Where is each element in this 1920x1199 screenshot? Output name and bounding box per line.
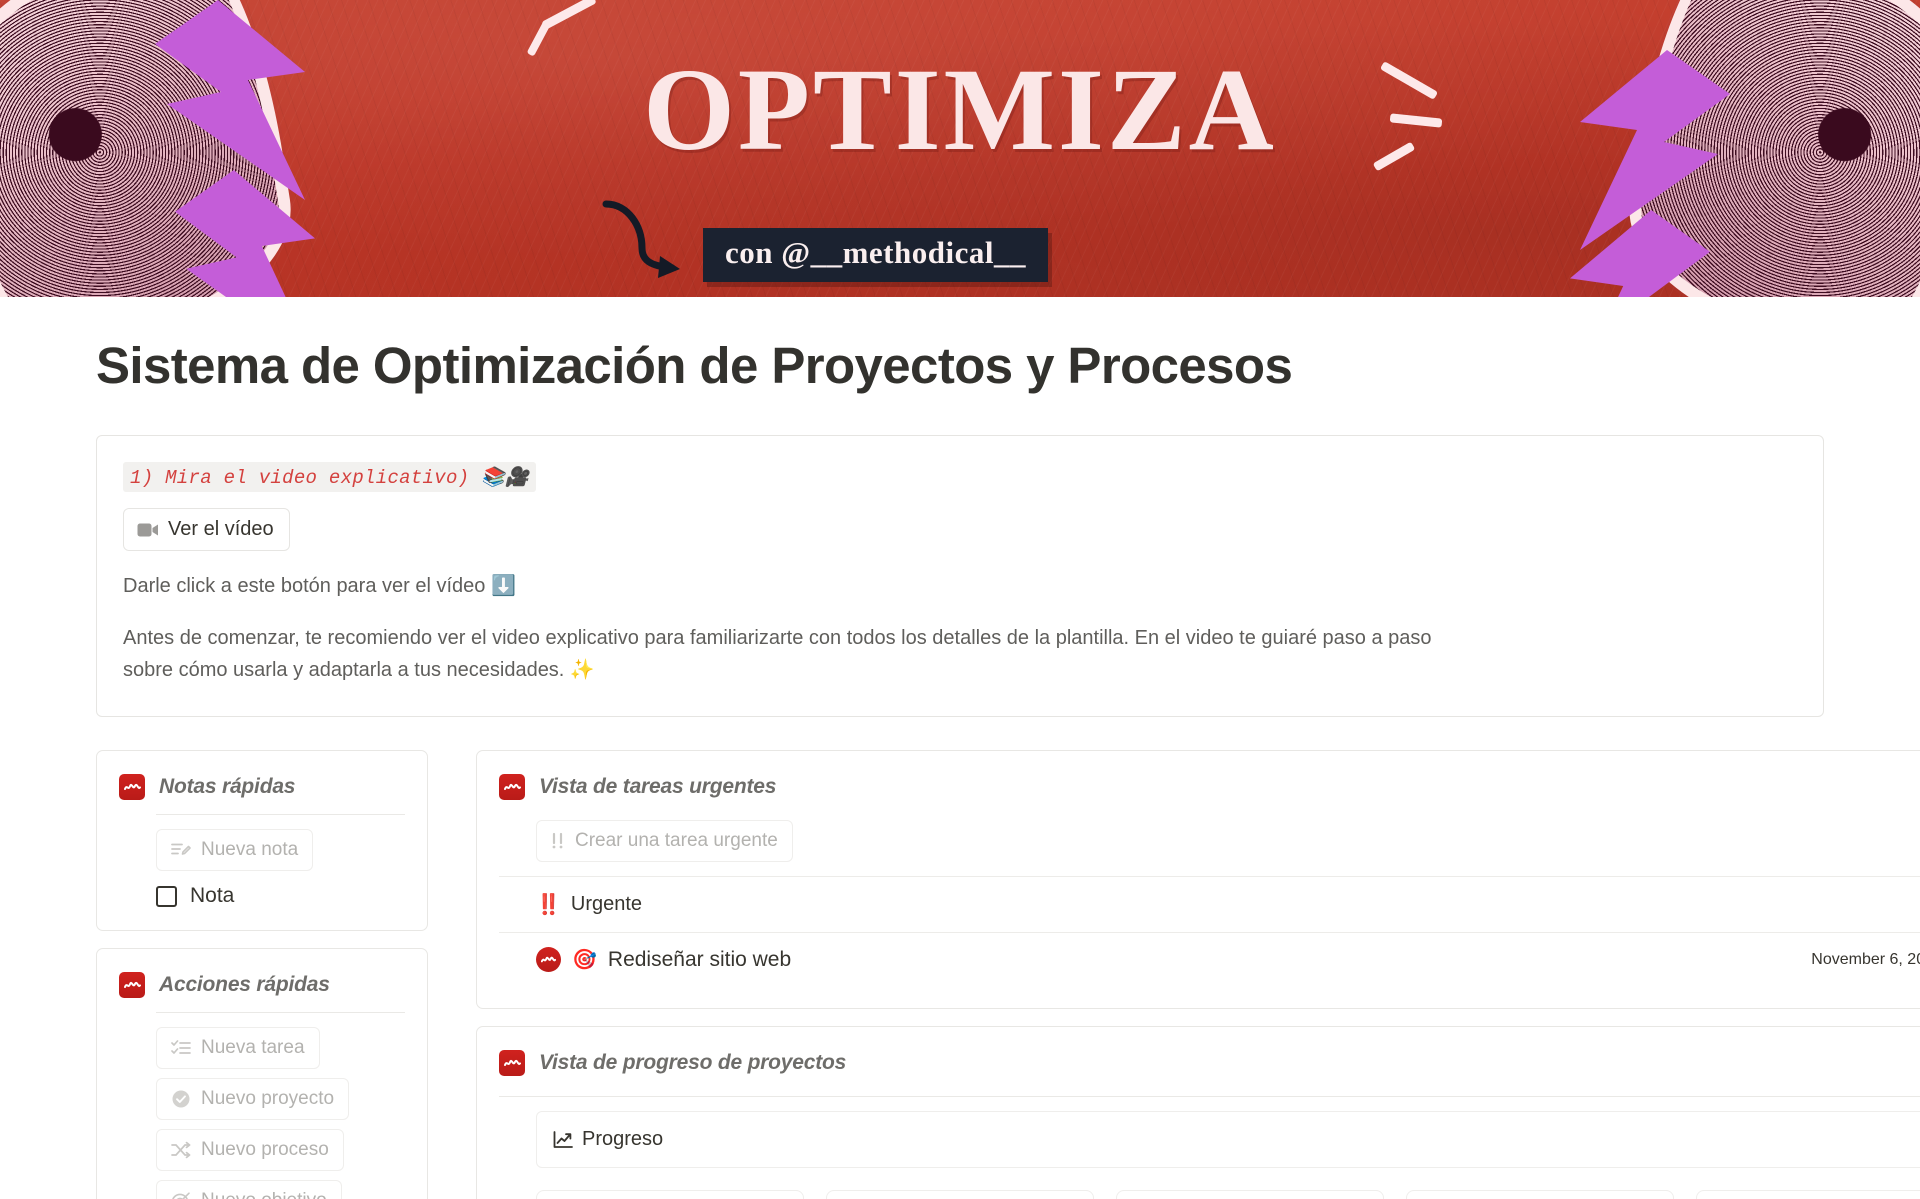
nueva-tarea-row: Nueva tarea	[119, 1027, 405, 1069]
nueva-nota-label: Nueva nota	[201, 839, 298, 861]
crear-tarea-urgente-button[interactable]: Crear una tarea urgente	[536, 820, 793, 862]
nueva-nota-row: Nueva nota	[119, 829, 405, 871]
target-icon	[171, 1191, 191, 1199]
watch-video-button[interactable]: Ver el vídeo	[123, 508, 290, 551]
notion-database-icon	[536, 947, 561, 972]
video-callout-block: 1) Mira el video explicativo) 📚🎥 Ver el …	[96, 435, 1824, 717]
notion-database-icon	[119, 774, 145, 800]
divider	[156, 814, 405, 815]
notas-rapidas-header[interactable]: Notas rápidas	[119, 769, 405, 806]
double-exclamation-emoji: ‼️	[536, 895, 561, 915]
project-card[interactable]: Estrategia comercial	[1406, 1190, 1674, 1199]
table-row[interactable]: 🎯 Rediseñar sitio web November 6, 202…	[499, 932, 1920, 986]
nuevo-proceso-button[interactable]: Nuevo proceso	[156, 1129, 344, 1171]
group-header-progreso[interactable]: Progreso	[536, 1111, 1920, 1168]
nuevo-proyecto-button[interactable]: Nuevo proyecto	[156, 1078, 349, 1120]
double-exclamation-icon	[551, 832, 565, 850]
nuevo-objetivo-row: Nuevo objetivo	[119, 1180, 405, 1199]
task-date: November 6, 202…	[1811, 951, 1920, 969]
check-circle-icon	[171, 1089, 191, 1109]
project-card[interactable]	[1696, 1190, 1920, 1199]
divider	[156, 1012, 405, 1013]
shuffle-icon	[171, 1141, 191, 1159]
step-code-label: 1) Mira el video explicativo) 📚🎥	[123, 462, 536, 492]
notion-database-icon	[119, 972, 145, 998]
tareas-urgentes-card: Vista de tareas urgentes Crear una	[476, 750, 1920, 1009]
page-content: Sistema de Optimización de Proyectos y P…	[0, 335, 1920, 1199]
right-column: Vista de tareas urgentes Crear una	[476, 750, 1920, 1199]
crear-tarea-urgente-label: Crear una tarea urgente	[575, 830, 778, 852]
page-title: Sistema de Optimización de Proyectos y P…	[96, 335, 1824, 396]
notion-database-icon	[499, 774, 525, 800]
task-title: Rediseñar sitio web	[608, 948, 791, 972]
nueva-tarea-button[interactable]: Nueva tarea	[156, 1027, 320, 1069]
notion-database-icon	[499, 1050, 525, 1076]
nuevo-proceso-row: Nuevo proceso	[119, 1129, 405, 1171]
nuevo-objetivo-button[interactable]: Nuevo objetivo	[156, 1180, 342, 1199]
crear-tarea-urgente-row: Crear una tarea urgente	[499, 820, 1920, 862]
note-edit-icon	[171, 841, 191, 859]
group-header-label: Urgente	[571, 893, 642, 916]
banner-credit-badge: con @__methodical__	[703, 228, 1048, 282]
nuevo-proyecto-label: Nuevo proyecto	[201, 1088, 334, 1110]
nuevo-proceso-label: Nuevo proceso	[201, 1139, 329, 1161]
callout-lead-text: Darle click a este botón para ver el víd…	[123, 570, 1797, 602]
group-header-urgente[interactable]: ‼️ Urgente	[499, 876, 1920, 932]
chart-line-icon	[553, 1131, 573, 1149]
progreso-proyectos-header[interactable]: Vista de progreso de proyectos	[499, 1045, 1920, 1082]
project-card[interactable]: CRM	[826, 1190, 1094, 1199]
tareas-urgentes-header[interactable]: Vista de tareas urgentes	[499, 769, 1920, 806]
callout-body-text: Antes de comenzar, te recomiendo ver el …	[123, 622, 1453, 687]
nuevo-proyecto-row: Nuevo proyecto	[119, 1078, 405, 1120]
page-cover-banner: OPTIMIZA con @__methodical__	[0, 0, 1920, 297]
acciones-rapidas-card: Acciones rápidas Nueva tarea	[96, 948, 428, 1199]
notas-rapidas-card: Notas rápidas Nueva nota	[96, 750, 428, 931]
banner-title: OPTIMIZA	[0, 42, 1920, 178]
divider	[499, 1096, 1920, 1097]
task-row-content: 🎯 Rediseñar sitio web	[536, 947, 791, 972]
watch-video-button-label: Ver el vídeo	[168, 518, 274, 541]
progreso-proyectos-card: Vista de progreso de proyectos Progreso	[476, 1026, 1920, 1199]
nueva-tarea-label: Nueva tarea	[201, 1037, 305, 1059]
list-item[interactable]: Nota	[119, 884, 405, 908]
progreso-proyectos-title: Vista de progreso de proyectos	[539, 1051, 846, 1075]
video-camera-icon	[137, 522, 159, 538]
note-checkbox[interactable]	[156, 886, 177, 907]
project-card-gallery: Branding CRM	[536, 1190, 1920, 1199]
curved-arrow-icon	[598, 200, 708, 280]
dashboard-columns: Notas rápidas Nueva nota	[96, 750, 1824, 1199]
target-emoji: 🎯	[572, 950, 597, 970]
notas-rapidas-title: Notas rápidas	[159, 775, 295, 799]
group-header-label: Progreso	[582, 1128, 663, 1151]
tareas-urgentes-title: Vista de tareas urgentes	[539, 775, 776, 799]
nuevo-objetivo-label: Nuevo objetivo	[201, 1190, 327, 1199]
acciones-rapidas-title: Acciones rápidas	[159, 973, 330, 997]
project-card[interactable]: Branding	[536, 1190, 804, 1199]
left-column: Notas rápidas Nueva nota	[96, 750, 428, 1199]
project-card[interactable]: Gestión financiera	[1116, 1190, 1384, 1199]
nueva-nota-button[interactable]: Nueva nota	[156, 829, 313, 871]
checklist-icon	[171, 1039, 191, 1057]
note-label: Nota	[190, 884, 234, 908]
acciones-rapidas-header[interactable]: Acciones rápidas	[119, 967, 405, 1004]
